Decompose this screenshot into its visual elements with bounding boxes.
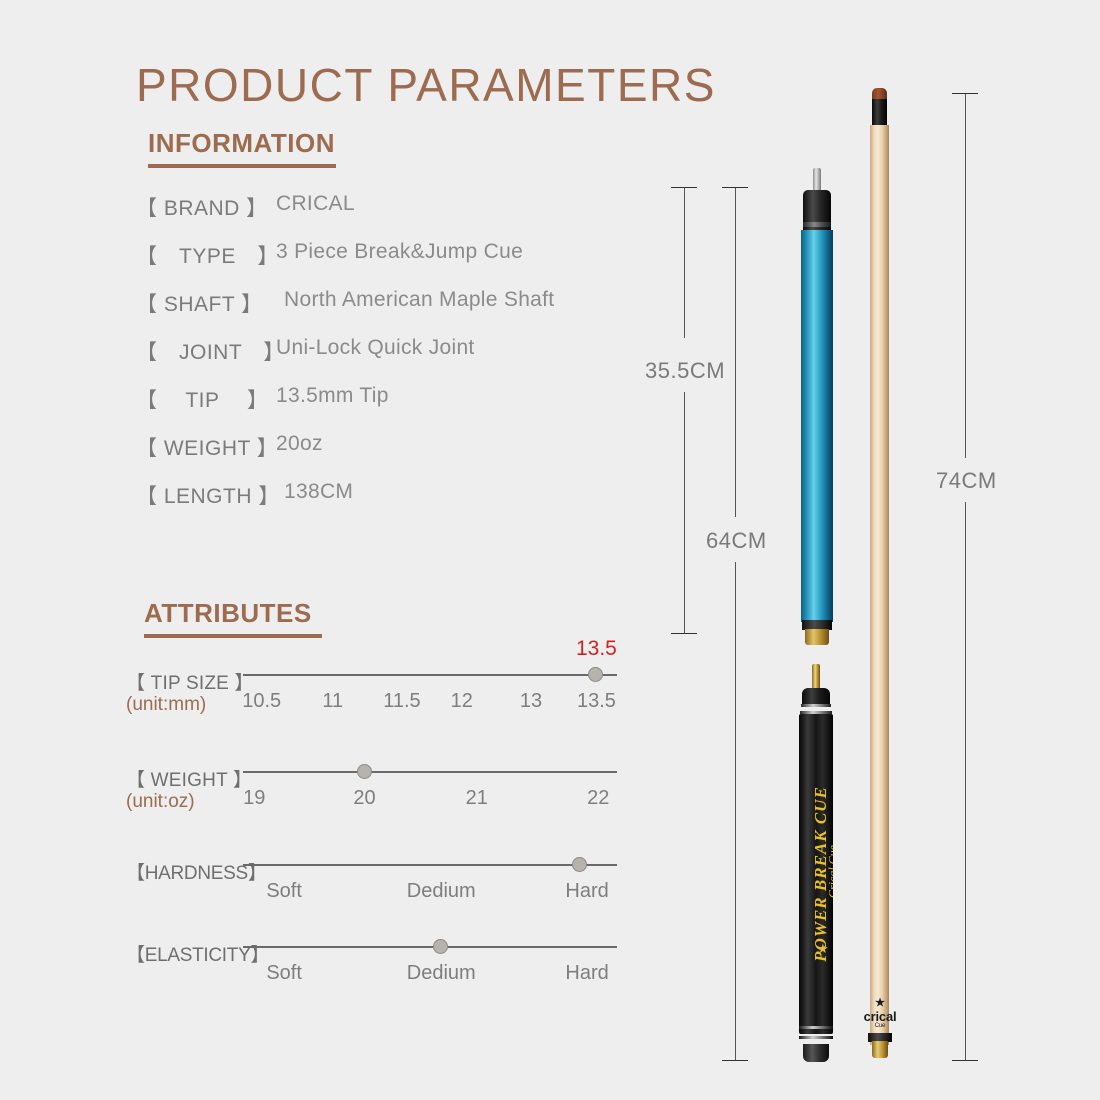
info-row-weight: 【 WEIGHT 】 20oz	[136, 432, 656, 480]
brass-joint-pin-icon	[812, 664, 820, 690]
blue-wrap-body	[801, 230, 833, 622]
butt-bottom-ring-1	[799, 1026, 833, 1029]
slider-ticks-elasticity: Soft Dedium Hard	[243, 962, 617, 990]
tick-hardness-1: Dedium	[407, 880, 476, 903]
slider-ticks-tip-size: 10.5 11 11.5 12 13 13.5	[243, 690, 617, 718]
slider-hardness[interactable]	[243, 864, 617, 866]
information-heading-text: INFORMATION	[148, 128, 335, 158]
tick-tip-size-4: 13	[520, 690, 542, 713]
blue-cue-butt-image	[800, 168, 834, 646]
slider-knob-weight[interactable]	[357, 764, 372, 779]
tick-elasticity-1: Dedium	[407, 962, 476, 985]
butt-brand-text-sub: Crical Cue	[826, 822, 834, 922]
slider-knob-hardness[interactable]	[572, 857, 587, 872]
tick-tip-size-3: 12	[451, 690, 473, 713]
dimension-line-74-lower	[965, 502, 966, 1060]
info-row-joint: 【 JOINT 】 Uni-Lock Quick Joint	[136, 336, 656, 384]
attribute-label-tip-size: 【 TIP SIZE 】	[126, 668, 244, 695]
info-value-brand: CRICAL	[276, 192, 355, 216]
dimension-line-64-upper	[735, 188, 736, 517]
dimension-cap-bottom-35	[671, 633, 697, 634]
info-key-weight: 【 WEIGHT 】	[136, 432, 266, 462]
info-value-joint: Uni-Lock Quick Joint	[276, 336, 475, 360]
dimension-label-64: 64CM	[706, 528, 767, 554]
dimension-label-74: 74CM	[936, 468, 997, 494]
info-row-tip: 【 TIP 】 13.5mm Tip	[136, 384, 656, 432]
info-row-length: 【 LENGTH 】 138CM	[136, 480, 656, 528]
dimension-line-35-lower	[684, 392, 685, 633]
star-icon: ★	[858, 998, 902, 1009]
page-title: PRODUCT PARAMETERS	[136, 58, 716, 112]
slider-value-tip-size: 13.5	[576, 637, 617, 661]
information-section-heading: INFORMATION	[148, 128, 336, 168]
dimension-cap-bottom-74	[952, 1060, 978, 1061]
slider-elasticity[interactable]	[243, 946, 617, 948]
slider-knob-tip-size[interactable]	[588, 667, 603, 682]
tick-hardness-2: Hard	[565, 880, 608, 903]
maple-shaft-image: ★ crical Cue	[866, 88, 894, 1064]
butt-black-body: POWER BREAK CUE Crical Cue ★	[799, 714, 833, 1034]
tick-elasticity-0: Soft	[266, 962, 302, 985]
info-row-type: 【 TYPE 】 3 Piece Break&Jump Cue	[136, 240, 656, 288]
black-cue-butt-image: POWER BREAK CUE Crical Cue ★	[795, 664, 837, 1064]
tick-weight-0: 19	[243, 787, 265, 810]
joint-pin-icon	[813, 168, 821, 192]
info-key-shaft: 【 SHAFT 】	[136, 288, 266, 318]
slider-ticks-hardness: Soft Dedium Hard	[243, 880, 617, 908]
tick-hardness-0: Soft	[266, 880, 302, 903]
tick-elasticity-2: Hard	[565, 962, 608, 985]
info-key-length: 【 LENGTH 】	[136, 480, 266, 510]
butt-bottom-ring-2	[799, 1036, 833, 1039]
slider-track-elasticity	[243, 946, 617, 948]
dimension-label-35: 35.5CM	[645, 358, 725, 384]
attribute-label-hardness: 【HARDNESS】	[126, 858, 244, 885]
info-value-type: 3 Piece Break&Jump Cue	[276, 240, 523, 264]
slider-track-hardness	[243, 864, 617, 866]
attribute-unit-tip-size: (unit:mm)	[126, 694, 244, 716]
info-key-joint: 【 JOINT 】	[136, 336, 266, 366]
collar-ring	[803, 222, 831, 227]
ferrule	[872, 99, 887, 126]
attributes-section-heading: ATTRIBUTES	[144, 598, 322, 638]
tick-weight-1: 20	[353, 787, 375, 810]
info-key-brand: 【 BRAND 】	[136, 192, 266, 222]
slider-tip-size[interactable]: 13.5	[243, 674, 617, 676]
attributes-heading-text: ATTRIBUTES	[144, 598, 312, 628]
information-list: 【 BRAND 】 CRICAL 【 TYPE 】 3 Piece Break&…	[136, 192, 656, 528]
attribute-unit-weight: (unit:oz)	[126, 791, 244, 813]
slider-track-tip-size	[243, 674, 617, 676]
dimension-line-35-upper	[684, 188, 685, 338]
info-value-shaft: North American Maple Shaft	[284, 288, 554, 312]
slider-knob-elasticity[interactable]	[433, 939, 448, 954]
dimension-cap-bottom-64	[722, 1060, 748, 1061]
tick-tip-size-2: 11.5	[383, 690, 420, 713]
tick-weight-3: 22	[587, 787, 609, 810]
star-icon: ★	[817, 942, 829, 955]
tick-tip-size-5: 13.5	[577, 690, 616, 713]
info-value-tip: 13.5mm Tip	[276, 384, 389, 408]
shaft-brass-collar	[872, 1041, 888, 1058]
info-row-brand: 【 BRAND 】 CRICAL	[136, 192, 656, 240]
slider-weight[interactable]	[243, 771, 617, 773]
tick-tip-size-1: 11	[322, 690, 343, 713]
dimension-line-64-lower	[735, 562, 736, 1060]
attribute-label-elasticity: 【ELASTICITY】	[126, 940, 244, 967]
slider-ticks-weight: 19 20 21 22	[243, 787, 617, 815]
info-row-shaft: 【 SHAFT 】 North American Maple Shaft	[136, 288, 656, 336]
attributes-heading-underline	[144, 634, 322, 638]
shaft-logo: ★ crical Cue	[858, 998, 902, 1029]
maple-wood-body	[870, 125, 889, 1045]
info-value-length: 138CM	[284, 480, 353, 504]
rubber-bumper	[803, 1044, 829, 1062]
shaft-logo-text: crical	[864, 1009, 897, 1024]
butt-top-ring-1	[801, 704, 831, 707]
brass-joint-collar	[805, 629, 829, 645]
info-value-weight: 20oz	[276, 432, 323, 456]
slider-track-weight	[243, 771, 617, 773]
info-key-tip: 【 TIP 】	[136, 384, 266, 414]
tick-tip-size-0: 10.5	[242, 690, 281, 713]
info-key-type: 【 TYPE 】	[136, 240, 266, 270]
tick-weight-2: 21	[466, 787, 488, 810]
product-parameters-page: PRODUCT PARAMETERS INFORMATION 【 BRAND 】…	[0, 0, 1100, 1100]
dimension-line-74-upper	[965, 94, 966, 458]
attribute-label-weight: 【 WEIGHT 】	[126, 765, 244, 792]
information-heading-underline	[148, 164, 336, 168]
